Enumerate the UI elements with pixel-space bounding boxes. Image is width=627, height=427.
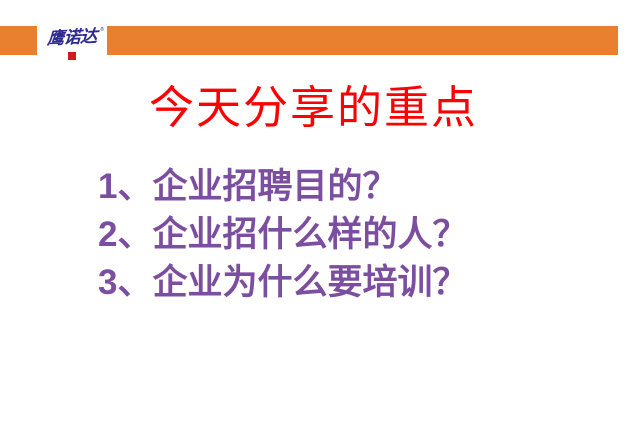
- brand-logo-icon: 鹰诺达 ®: [38, 26, 106, 62]
- agenda-list: 1、企业招聘目的？ 2、企业招什么样的人？ 3、企业为什么要培训？: [98, 163, 598, 307]
- list-item-label: 企业为什么要培训？: [152, 263, 467, 303]
- registered-trademark-icon: ®: [100, 27, 104, 33]
- presentation-slide: 鹰诺达 ® 今天分享的重点 1、企业招聘目的？ 2、企业招什么样的人？ 3、企业…: [0, 0, 627, 427]
- page-title: 今天分享的重点: [0, 82, 627, 134]
- logo-plate: 鹰诺达 ®: [37, 24, 107, 64]
- list-item: 1、企业招聘目的？: [98, 163, 598, 211]
- logo-seal-icon: [68, 52, 76, 60]
- list-item: 2、企业招什么样的人？: [98, 211, 598, 259]
- list-item: 3、企业为什么要培训？: [98, 259, 598, 307]
- list-item-number: 3、: [98, 263, 152, 302]
- list-item-number: 2、: [98, 215, 152, 254]
- list-item-label: 企业招什么样的人？: [152, 215, 467, 255]
- list-item-label: 企业招聘目的？: [152, 167, 397, 207]
- logo-wordmark: 鹰诺达: [37, 26, 106, 50]
- list-item-number: 1、: [98, 167, 152, 206]
